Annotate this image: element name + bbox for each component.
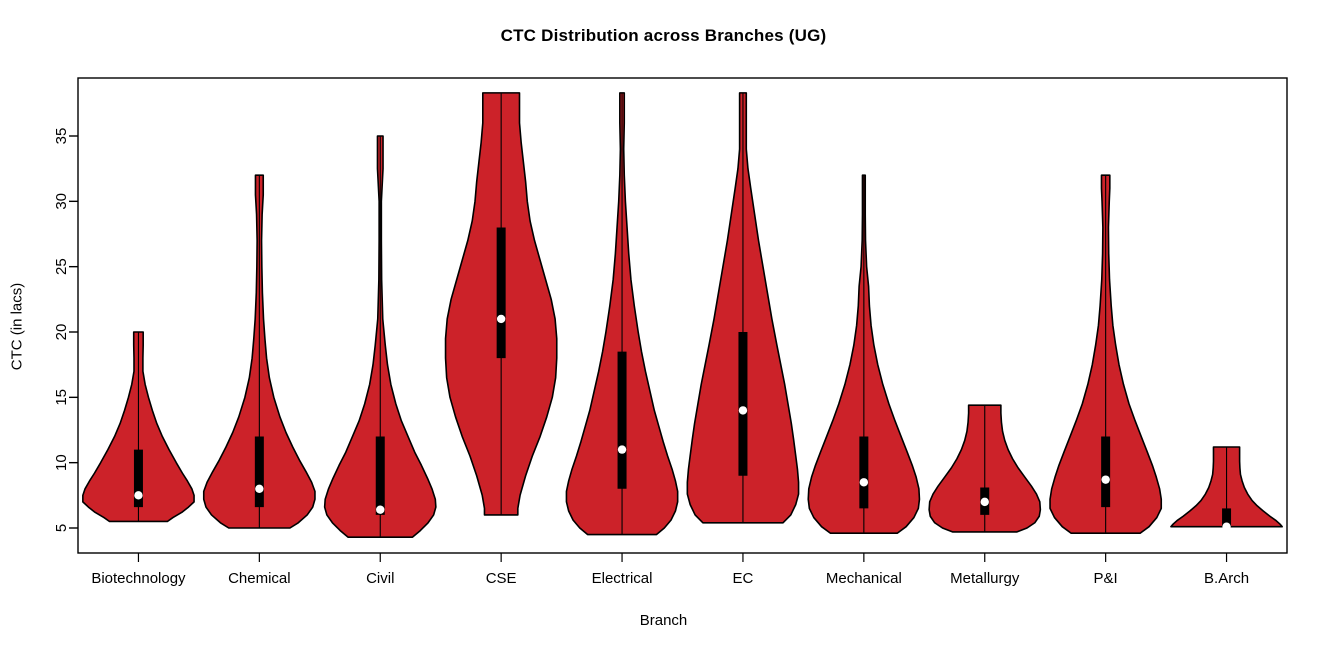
y-axis-tick-label: 10	[53, 454, 70, 471]
violin-median-marker	[497, 315, 505, 323]
violin-chemical	[204, 175, 315, 528]
violin-chart: CTC Distribution across Branches (UG) CT…	[0, 0, 1327, 653]
violin-b-arch	[1171, 447, 1282, 531]
violin-p-i	[1050, 175, 1161, 533]
violin-median-marker	[981, 498, 989, 506]
x-axis-tick-label: Biotechnology	[91, 570, 186, 587]
y-axis-tick-label: 5	[53, 524, 70, 532]
violin-median-marker	[376, 506, 384, 514]
plot-area: 5101520253035BiotechnologyChemicalCivilC…	[0, 0, 1327, 653]
violin-cse	[446, 93, 557, 515]
violin-median-marker	[134, 491, 142, 499]
x-axis-tick-label: Metallurgy	[950, 570, 1020, 587]
y-axis-tick-label: 15	[53, 389, 70, 406]
violin-civil	[325, 136, 436, 537]
x-axis-tick-label: P&I	[1094, 570, 1118, 587]
violin-median-marker	[1101, 475, 1109, 483]
violin-median-marker	[618, 445, 626, 453]
violin-metallurgy	[929, 405, 1040, 532]
x-axis-tick-label: Civil	[366, 570, 394, 587]
violin-mechanical	[808, 175, 919, 533]
x-axis-tick-label: B.Arch	[1204, 570, 1249, 587]
violin-median-marker	[739, 406, 747, 414]
violin-median-marker	[1222, 522, 1230, 530]
x-axis-tick-label: CSE	[486, 570, 517, 587]
x-axis-tick-label: EC	[733, 570, 754, 587]
y-axis-tick-label: 20	[53, 324, 70, 341]
violin-median-marker	[255, 485, 263, 493]
violin-electrical	[566, 93, 677, 535]
x-axis-title: Branch	[0, 612, 1327, 629]
y-axis-tick-label: 30	[53, 193, 70, 210]
violin-median-marker	[860, 478, 868, 486]
x-axis-tick-label: Chemical	[228, 570, 291, 587]
y-axis-tick-label: 35	[53, 128, 70, 145]
violin-biotechnology	[83, 332, 194, 521]
violin-ec	[687, 93, 798, 523]
y-axis-tick-label: 25	[53, 258, 70, 275]
x-axis-tick-label: Electrical	[592, 570, 653, 587]
x-axis-tick-label: Mechanical	[826, 570, 902, 587]
